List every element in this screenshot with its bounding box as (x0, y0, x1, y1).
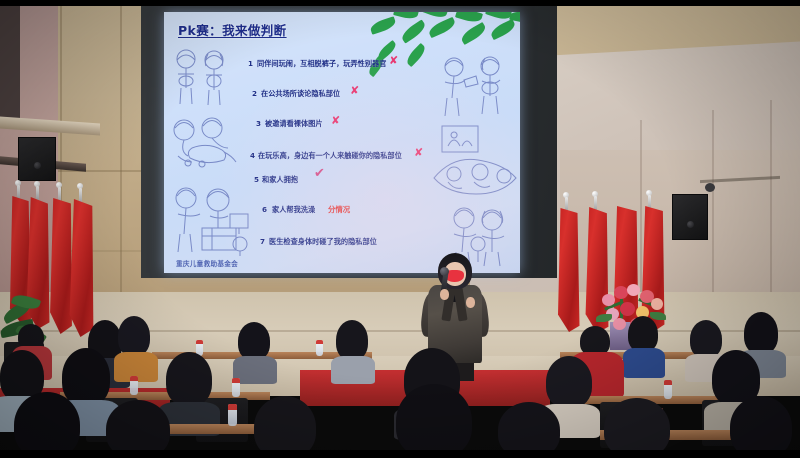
slide-item-7-number: 7 (260, 237, 265, 246)
slide-item-7-text: 医生检查身体时碰了我的隐私部位 (269, 237, 377, 247)
wall-speaker-left (18, 137, 56, 181)
illustration-picture-frame (440, 124, 480, 154)
letterbox-top (0, 0, 800, 6)
person-torso (331, 356, 375, 384)
leaf-icon (404, 43, 428, 67)
illustration-doctor-examining (428, 152, 520, 200)
bottle-cap (316, 340, 323, 344)
person-hair (730, 396, 792, 458)
flower-blossom (620, 302, 635, 316)
letterbox-bottom (0, 450, 800, 458)
flower-blossom (614, 286, 628, 299)
slide-item-2-text: 在公共场所谈论隐私部位 (261, 89, 340, 99)
slide-item-6-text: 家人帮我洗澡 (272, 205, 315, 215)
slide-item-4-text: 在玩乐高，身边有一个人来触碰你的隐私部位 (258, 151, 402, 161)
person-hair (118, 316, 150, 356)
person-hair (336, 320, 368, 360)
person-hair (604, 398, 670, 458)
slide-title: Pk赛：我来做判断 (178, 20, 287, 39)
slide-item-1-text: 同伴间玩闹，互相脱裤子，玩弄性别器官 (257, 59, 386, 69)
person-hair (690, 320, 722, 358)
water-bottle (228, 404, 237, 426)
microphone-head-icon (440, 267, 449, 276)
wall-speaker-right (672, 194, 708, 240)
speaker-cone-icon (687, 221, 694, 228)
illustration-two-children (168, 48, 234, 110)
person-hair (238, 322, 270, 360)
slide-item-1-mark: ✘ (389, 54, 398, 67)
illustration-two-adults-talking (436, 54, 512, 120)
bottle-cap (232, 378, 240, 383)
bottle-cap (664, 380, 672, 385)
presenter-hand-left (440, 289, 449, 300)
leaf-icon (427, 17, 457, 38)
slide-item-5-mark: ✔ (314, 166, 325, 181)
person-hair (62, 348, 110, 406)
leaf-icon (393, 12, 419, 21)
panel-divider-2 (712, 110, 714, 310)
screenshot-root: Pk赛：我来做判断 (0, 0, 800, 458)
bottle-cap (196, 340, 203, 344)
bottle-cap (228, 404, 237, 410)
flower-blossom (613, 318, 626, 330)
slide-item-4-number: 4 (250, 151, 255, 160)
slide-item-6-mark: 分情况 (328, 204, 350, 215)
illustration-children-playing (168, 116, 244, 168)
flower-blossom (602, 294, 615, 306)
water-bottle (130, 376, 138, 395)
person-hair (396, 384, 472, 458)
leaf-icon (455, 12, 483, 24)
slide-item-3-number: 3 (256, 119, 261, 128)
slide-item-1-number: 1 (248, 59, 253, 68)
slide-item-3-text: 被邀请看裸体图片 (265, 119, 323, 129)
leaf-icon (489, 19, 517, 40)
person-hair (254, 396, 316, 458)
ceiling-camera-icon (705, 183, 715, 192)
flower-blossom (651, 298, 663, 310)
slide-item-4-mark: ✘ (414, 146, 423, 159)
slide-item-2-number: 2 (252, 89, 257, 98)
person-hair (14, 392, 80, 458)
flower-leaf (650, 312, 666, 320)
wall-seam-2 (120, 0, 122, 300)
person-hair (546, 356, 592, 408)
slide-item-5-number: 5 (254, 175, 259, 184)
leaf-icon (459, 22, 488, 45)
person-torso (623, 348, 665, 378)
person-hair (744, 312, 778, 354)
leaf-icon (369, 16, 397, 34)
slide-item-2-mark: ✘ (350, 84, 359, 97)
leaf-icon (421, 12, 448, 20)
slide-item-6-number: 6 (262, 205, 267, 214)
water-bottle (316, 340, 323, 356)
leaf-icon (399, 19, 428, 43)
illustration-adult-bathing-child (168, 184, 254, 256)
speaker-cone-icon (34, 162, 41, 169)
slide-item-5-text: 和家人拥抱 (262, 175, 298, 185)
water-bottle (232, 378, 240, 397)
presenter-hand-right (466, 297, 475, 308)
water-bottle (664, 380, 672, 399)
projection-screen[interactable]: Pk赛：我来做判断 (164, 12, 520, 273)
person-hair (628, 316, 658, 352)
flower-leaf (596, 314, 612, 322)
panel-divider-3 (770, 100, 772, 310)
slide-watermark: 重庆儿童救助基金会 (176, 258, 238, 268)
wall-left-dark-recess (0, 0, 20, 120)
bottle-cap (130, 376, 138, 381)
flower-blossom (627, 284, 640, 296)
slide-item-3-mark: ✘ (331, 114, 340, 127)
person-hair (166, 352, 212, 406)
